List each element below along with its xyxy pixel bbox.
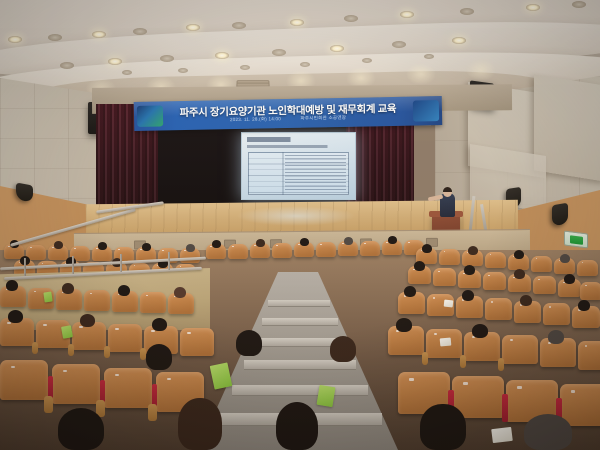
downlight: [392, 41, 406, 48]
downlight: [400, 11, 414, 18]
downlight: [8, 36, 22, 43]
handout-paper: [444, 300, 454, 308]
wall-wash-glow: [466, 59, 496, 81]
downlight: [526, 4, 540, 11]
organizer-logo-icon: [413, 100, 439, 121]
auditorium-photo: 파주시 장기요양기관 노인학대예방 및 재무회계 교육 2023. 11. 28…: [0, 0, 600, 450]
handrail-post: [24, 258, 26, 276]
downlight: [178, 68, 188, 73]
handrail-post: [72, 256, 74, 274]
downlight: [232, 22, 246, 29]
aisle-step: [262, 318, 338, 326]
handout-paper: [491, 427, 513, 443]
handrail-post: [120, 254, 122, 272]
slide-title-line: [247, 137, 350, 142]
slide-table: [248, 152, 349, 195]
banner-date: 2023. 11. 28.(화) 14:00: [230, 116, 281, 122]
downlight: [272, 49, 286, 56]
downlight: [108, 58, 122, 65]
handout-booklet: [317, 385, 336, 407]
aisle-step: [232, 385, 368, 396]
downlight: [290, 19, 304, 26]
downlight: [60, 62, 74, 69]
banner-venue: 파주시민회관 소공연장: [300, 115, 346, 121]
downlight: [122, 70, 132, 75]
handrail-post: [168, 252, 170, 270]
downlight: [160, 55, 174, 62]
downlight: [215, 52, 229, 59]
downlight: [92, 31, 106, 38]
handout-booklet: [61, 325, 73, 339]
exit-sign-glyph: [570, 235, 583, 245]
emergency-exit-sign: [564, 231, 588, 249]
presenter-hair: [443, 187, 452, 192]
wall-wash-glow: [406, 63, 436, 85]
downlight: [460, 8, 474, 15]
aisle-step: [268, 300, 330, 307]
downlight: [48, 34, 62, 41]
downlight: [344, 15, 358, 22]
downlight: [424, 54, 434, 59]
handout-paper: [440, 338, 452, 347]
slide-subtitle-line: [247, 145, 350, 148]
projection-screen: [241, 132, 356, 200]
downlight: [300, 62, 310, 67]
downlight: [186, 24, 200, 31]
downlight: [452, 37, 466, 44]
downlight: [572, 1, 586, 8]
paju-city-logo-icon: [137, 105, 163, 126]
downlight: [330, 45, 344, 52]
downlight: [240, 65, 250, 70]
downlight: [133, 28, 147, 35]
event-banner: 파주시 장기요양기관 노인학대예방 및 재무회계 교육 2023. 11. 28…: [134, 96, 442, 131]
handout-booklet: [43, 291, 52, 302]
stage-light-reflection: [236, 206, 356, 226]
downlight: [362, 58, 372, 63]
